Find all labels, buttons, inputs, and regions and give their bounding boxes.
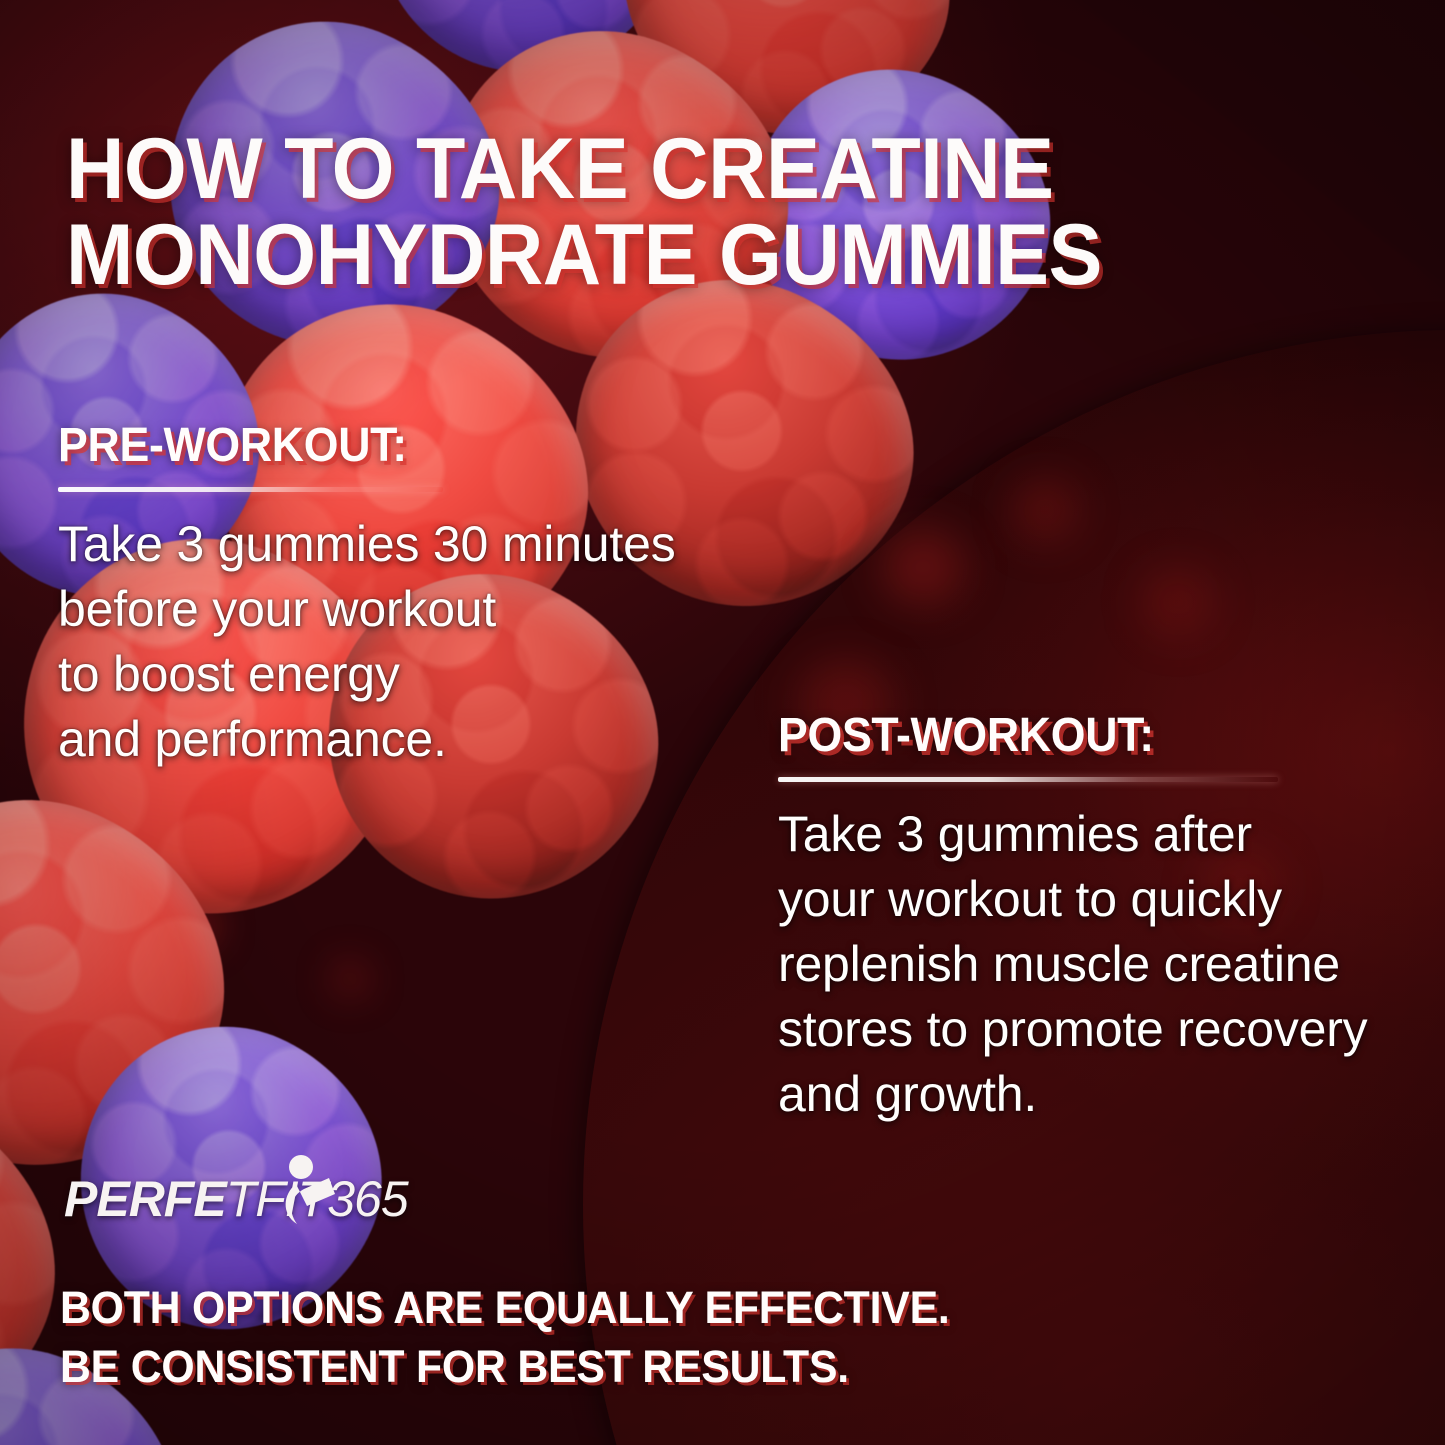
pre-workout-line-4: and performance. (58, 707, 758, 772)
post-workout-heading: POST-WORKOUT: (778, 708, 1383, 763)
pre-workout-line-1: Take 3 gummies 30 minutes (58, 512, 758, 577)
footer-message: BOTH OPTIONS ARE EQUALLY EFFECTIVE. BE C… (60, 1278, 1333, 1397)
pre-workout-divider (58, 487, 443, 492)
brand-logo-text: PERFETFIT365 (64, 1170, 408, 1228)
post-workout-body: Take 3 gummies after your workout to qui… (778, 802, 1428, 1127)
post-workout-line-1: Take 3 gummies after (778, 802, 1428, 867)
pre-workout-line-2: before your workout (58, 577, 758, 642)
post-workout-line-3: replenish muscle creatine (778, 932, 1428, 997)
post-workout-line-2: your workout to quickly (778, 867, 1428, 932)
post-workout-line-4: stores to promote recovery (778, 997, 1428, 1062)
pre-workout-body: Take 3 gummies 30 minutes before your wo… (58, 512, 758, 772)
pre-workout-heading: PRE-WORKOUT: (58, 418, 709, 473)
post-workout-line-5: and growth. (778, 1062, 1428, 1127)
brand-logo: PERFETFIT365 (64, 1168, 408, 1230)
pre-workout-line-3: to boost energy (58, 642, 758, 707)
footer-line-1: BOTH OPTIONS ARE EQUALLY EFFECTIVE. (60, 1278, 1333, 1337)
post-workout-section: POST-WORKOUT: Take 3 gummies after your … (778, 708, 1428, 1127)
page-title: HOW TO TAKE CREATINE MONOHYDRATE GUMMIES (66, 126, 1222, 298)
footer-line-2: BE CONSISTENT FOR BEST RESULTS. (60, 1337, 1333, 1396)
post-workout-divider (778, 777, 1278, 782)
infographic-poster: HOW TO TAKE CREATINE MONOHYDRATE GUMMIES… (0, 0, 1445, 1445)
pre-workout-section: PRE-WORKOUT: Take 3 gummies 30 minutes b… (58, 418, 758, 772)
brand-logo-bold: PERFE (64, 1171, 226, 1227)
running-figure-icon (271, 1154, 343, 1230)
